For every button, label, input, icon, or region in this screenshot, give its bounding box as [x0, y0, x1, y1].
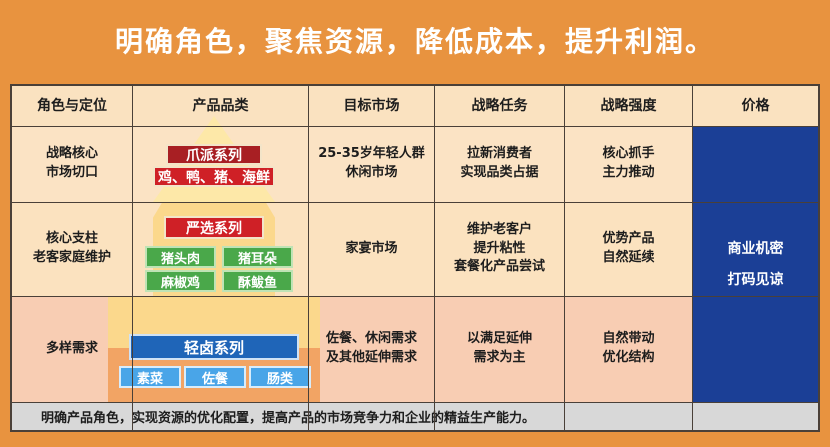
vline-col5 — [692, 86, 693, 430]
vline-col3 — [434, 86, 435, 430]
vline-col4 — [564, 86, 565, 430]
table-gridlines — [12, 86, 818, 430]
vline-col2 — [308, 86, 309, 430]
vline-col1 — [132, 86, 133, 430]
strategy-table: 爪派系列 鸡、鸭、猪、海鲜 严选系列 猪头肉 猪耳朵 麻椒鸡 酥鲅鱼 — [10, 84, 820, 432]
slide-root: 明确角色，聚焦资源，降低成本，提升利润。 — [0, 0, 830, 447]
slide-title-bar: 明确角色，聚焦资源，降低成本，提升利润。 — [0, 0, 830, 80]
page-title: 明确角色，聚焦资源，降低成本，提升利润。 — [115, 20, 715, 60]
